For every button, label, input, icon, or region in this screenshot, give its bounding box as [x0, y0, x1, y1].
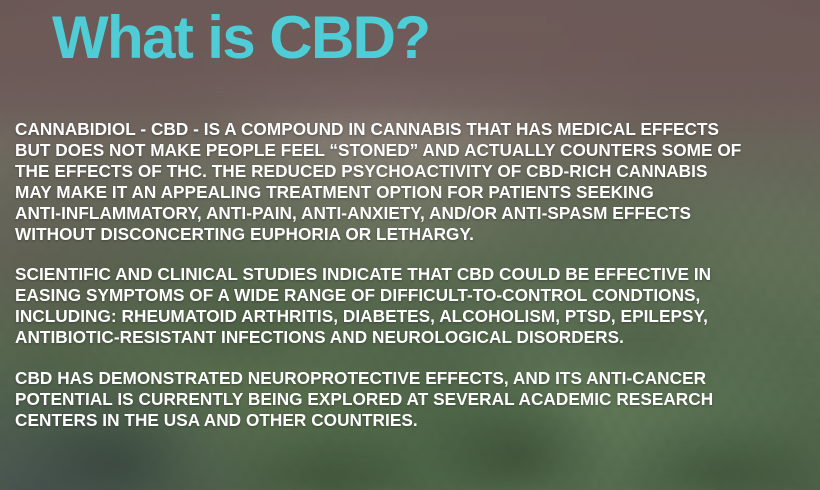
page-title: What is CBD? [52, 6, 429, 71]
paragraph-neuroprotective: CBD HAS DEMONSTRATED NEUROPROTECTIVE EFF… [15, 368, 815, 431]
paragraph-studies: SCIENTIFIC AND CLINICAL STUDIES INDICATE… [15, 264, 815, 348]
paragraph-definition: CANNABIDIOL - CBD - IS A COMPOUND IN CAN… [15, 119, 815, 244]
poster-content: What is CBD? CANNABIDIOL - CBD - IS A CO… [0, 0, 820, 490]
cbd-infographic-poster: What is CBD? CANNABIDIOL - CBD - IS A CO… [0, 0, 820, 490]
body-copy: CANNABIDIOL - CBD - IS A COMPOUND IN CAN… [15, 119, 815, 431]
